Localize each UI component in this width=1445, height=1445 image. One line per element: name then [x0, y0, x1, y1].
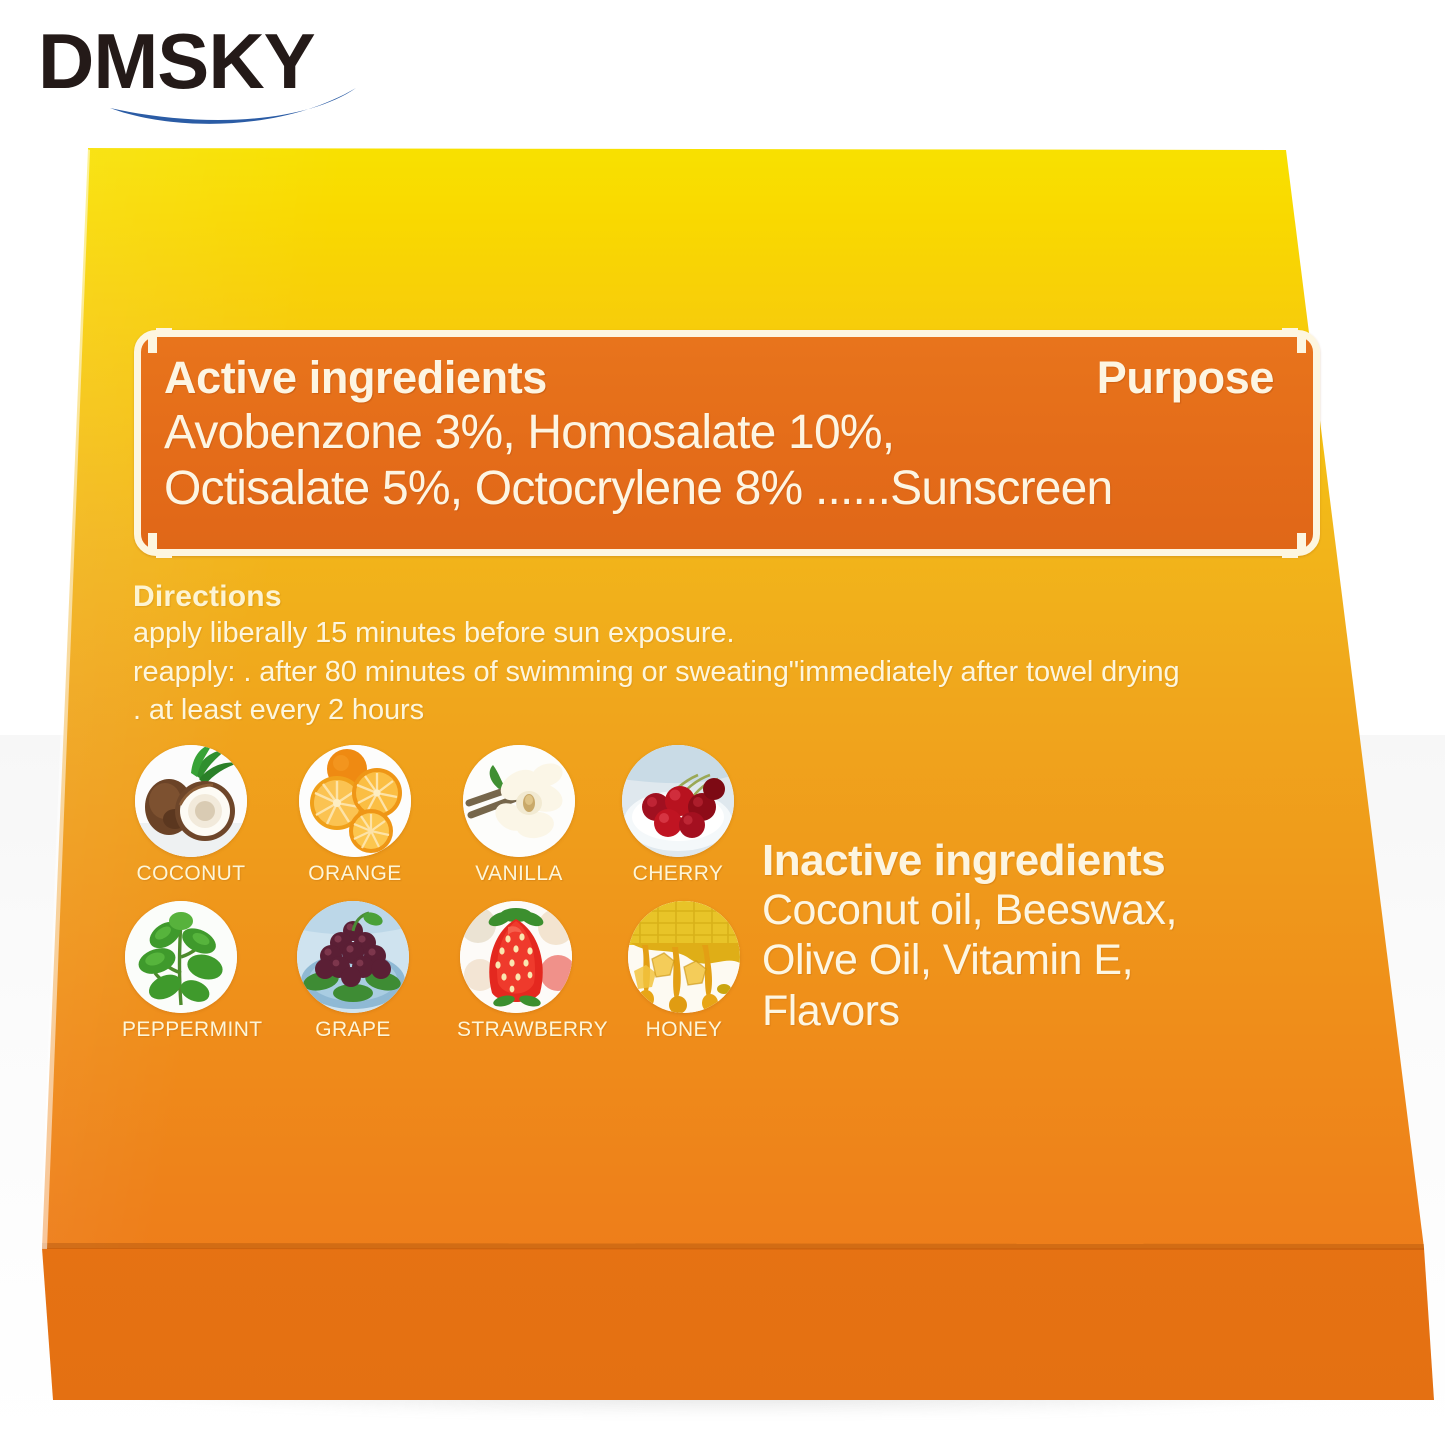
honey-icon — [628, 901, 740, 1013]
flavor-item-orange: ORANGE — [296, 745, 414, 886]
flavor-item-coconut: COCONUT — [132, 745, 250, 886]
flavor-label: GRAPE — [294, 1018, 412, 1042]
product-package-image: DMSKY Active ingredients Purpose Avobenz… — [0, 0, 1445, 1445]
strawberry-icon — [460, 901, 572, 1013]
cherry-icon — [622, 745, 734, 857]
banner-header-row: Active ingredients Purpose — [164, 352, 1290, 404]
active-ingredients-line-2: Octisalate 5%, Octocrylene 8% ......Suns… — [164, 462, 1290, 516]
coconut-icon — [135, 745, 247, 857]
directions-line-2: reapply: . after 80 minutes of swimming … — [133, 653, 1333, 692]
orange-icon — [299, 745, 411, 857]
directions-line-1: apply liberally 15 minutes before sun ex… — [133, 614, 1333, 653]
active-ingredients-banner: Active ingredients Purpose Avobenzone 3%… — [134, 330, 1320, 556]
flavor-label: ORANGE — [296, 862, 414, 886]
flavor-item-peppermint: PEPPERMINT — [122, 901, 240, 1042]
flavor-label: VANILLA — [460, 862, 578, 886]
grape-icon — [297, 901, 409, 1013]
flavor-item-cherry: CHERRY — [619, 745, 737, 886]
directions-section: Directions apply liberally 15 minutes be… — [133, 580, 1333, 730]
flavor-item-honey: HONEY — [625, 901, 743, 1042]
brand-logo: DMSKY — [38, 22, 368, 132]
active-ingredients-heading: Active ingredients — [164, 352, 547, 404]
flavor-row-2: PEPPERMINT — [122, 901, 762, 1049]
active-ingredients-line-1: Avobenzone 3%, Homosalate 10%, — [164, 406, 1290, 460]
inactive-ingredients-section: Inactive ingredients Coconut oil, Beeswa… — [762, 838, 1337, 1037]
inactive-ingredients-line-2: Olive Oil, Vitamin E, — [762, 935, 1337, 986]
purpose-heading: Purpose — [1097, 352, 1290, 404]
flavor-label: STRAWBERRY — [457, 1018, 575, 1042]
flavor-grid: COCONUT — [122, 745, 762, 1049]
flavor-item-grape: GRAPE — [294, 901, 412, 1042]
flavor-row-1: COCONUT — [122, 745, 762, 893]
directions-heading: Directions — [133, 580, 1333, 614]
inactive-ingredients-line-1: Coconut oil, Beeswax, — [762, 885, 1337, 936]
peppermint-icon — [125, 901, 237, 1013]
flavor-label: CHERRY — [619, 862, 737, 886]
brand-swoosh-icon — [108, 84, 378, 132]
inactive-ingredients-heading: Inactive ingredients — [762, 838, 1337, 885]
banner-content: Active ingredients Purpose Avobenzone 3%… — [134, 330, 1320, 556]
flavor-label: PEPPERMINT — [122, 1018, 240, 1042]
flavor-item-strawberry: STRAWBERRY — [457, 901, 575, 1042]
directions-line-3: . at least every 2 hours — [133, 691, 1333, 730]
vanilla-icon — [463, 745, 575, 857]
flavor-label: COCONUT — [132, 862, 250, 886]
inactive-ingredients-line-3: Flavors — [762, 986, 1337, 1037]
flavor-item-vanilla: VANILLA — [460, 745, 578, 886]
flavor-label: HONEY — [625, 1018, 743, 1042]
